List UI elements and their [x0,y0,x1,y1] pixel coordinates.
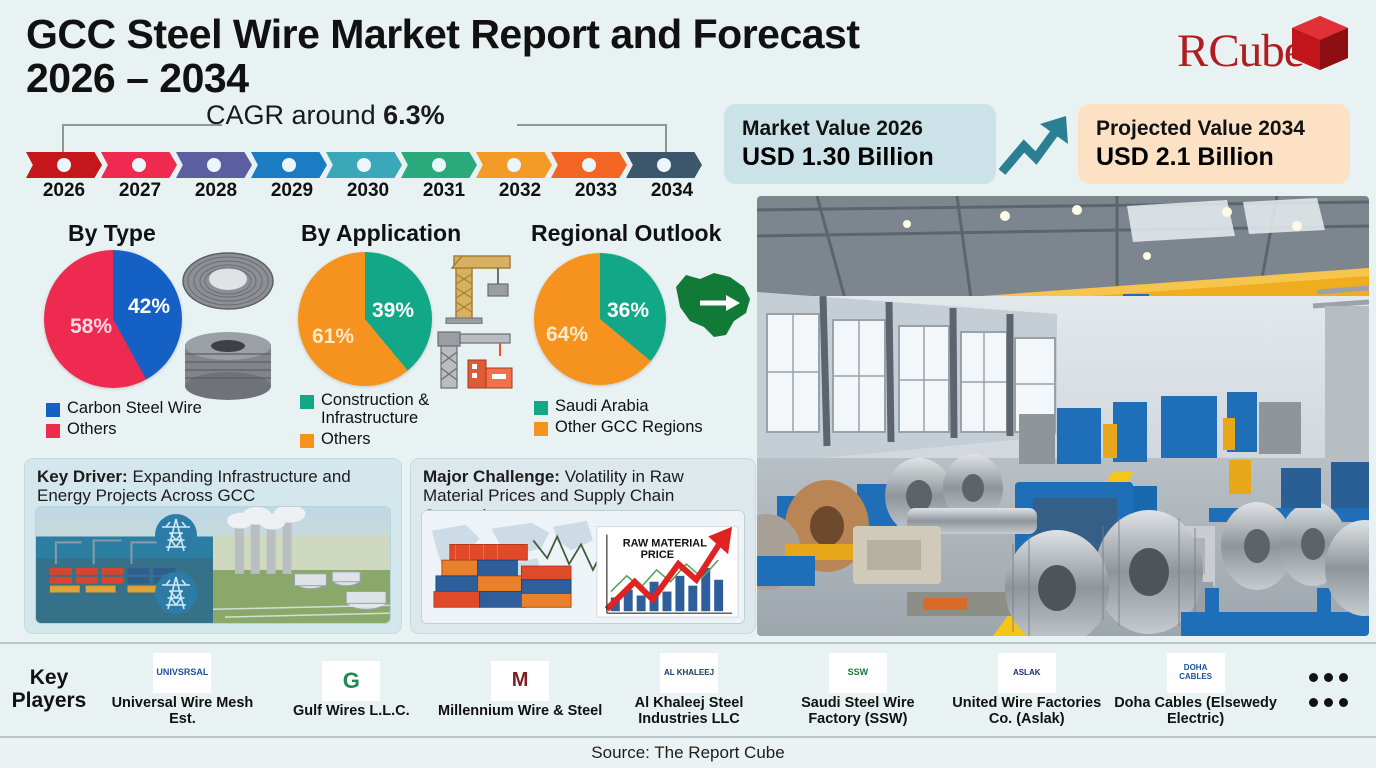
legend-item: Other GCC Regions [534,419,703,437]
pie-title-regional-outlook: Regional Outlook [531,220,721,247]
key-driver-heading: Key Driver: Expanding Infrastructure and… [37,467,391,506]
key-player-name: United Wire Factories Co. (Aslak) [944,695,1109,727]
key-player-name: Saudi Steel Wire Factory (SSW) [775,695,940,727]
market-value-label: Market Value 2026 [742,117,996,141]
key-player-name: Gulf Wires L.L.C. [293,703,410,719]
key-player-logo: AL KHALEEJ [660,653,718,693]
pie-by-type-value-0: 42% [128,295,170,319]
legend-item: Carbon Steel Wire [46,400,202,418]
key-player-name: Doha Cables (Elsewedy Electric) [1113,695,1278,727]
timeline-chevron-2029 [251,152,327,178]
pie-legend-by-application: Construction & Infrastructure Others [300,392,430,451]
legend-item: Construction & Infrastructure [300,392,430,428]
timeline-year-label: 2032 [482,180,558,202]
chevron-dot [657,158,671,172]
timeline-chevron-2027 [101,152,177,178]
key-player-item[interactable]: DOHA CABLESDoha Cables (Elsewedy Electri… [1111,653,1280,727]
page-title-line2: 2026 – 2034 [26,56,926,100]
legend-swatch [534,401,548,415]
pie-chart-by-type [44,250,182,388]
chevron-dot [57,158,71,172]
chevron-dot [357,158,371,172]
key-player-name: Universal Wire Mesh Est. [100,695,265,727]
market-value-amount: USD 1.30 Billion [742,143,996,172]
major-challenge-image: RAW MATERIAL PRICE [421,510,745,624]
pie-regional-value-0: 36% [607,299,649,323]
market-value-box: Market Value 2026 USD 1.30 Billion [724,104,996,184]
cube-icon [1170,8,1360,90]
legend-label: Carbon Steel Wire [67,400,202,418]
legend-swatch [300,395,314,409]
legend-swatch [46,403,60,417]
major-challenge-card: Major Challenge: Volatility in Raw Mater… [410,458,756,634]
key-player-logo: ASLAK [998,653,1056,693]
infographic-page: GCC Steel Wire Market Report and Forecas… [0,0,1376,768]
more-dots-row [1309,673,1348,682]
more-dots-row [1309,698,1348,707]
key-player-logo: G [322,661,380,701]
construction-crane-icon [432,248,512,324]
timeline-years: 202620272028202920302031203220332034 [26,180,710,202]
pie-regional-value-1: 64% [546,323,588,347]
pie-by-application-value-1: 61% [312,325,354,349]
key-player-item[interactable]: GGulf Wires L.L.C. [267,661,436,719]
factory-photo [757,196,1369,636]
key-player-logo: SSW [829,653,887,693]
timeline-chevron-2032 [476,152,552,178]
page-title-line1: GCC Steel Wire Market Report and Forecas… [26,12,926,56]
more-players-indicator[interactable] [1280,673,1376,707]
chevron-dot [582,158,596,172]
power-pylon-icon [154,513,198,557]
pie-legend-by-type: Carbon Steel Wire Others [46,400,202,442]
pie-by-type-value-1: 58% [70,315,112,339]
key-player-logo: DOHA CABLES [1167,653,1225,693]
projected-value-label: Projected Value 2034 [1096,117,1350,141]
timeline-year-label: 2034 [634,180,710,202]
legend-label: Others [321,431,371,449]
wire-coil-icon-2 [182,330,274,402]
key-players-title: Key Players [0,667,98,712]
key-players-list: UNIVSRSALUniversal Wire Mesh Est.GGulf W… [98,653,1280,727]
brand-logo: ЯCube [1170,8,1360,90]
key-player-item[interactable]: ASLAKUnited Wire Factories Co. (Aslak) [942,653,1111,727]
construction-site-icon [428,330,516,394]
timeline-chevron-2026 [26,152,102,178]
major-challenge-label: Major Challenge: [423,467,560,486]
chevron-dot [132,158,146,172]
timeline-year-label: 2031 [406,180,482,202]
key-driver-card: Key Driver: Expanding Infrastructure and… [24,458,402,634]
timeline-year-label: 2029 [254,180,330,202]
key-player-item[interactable]: AL KHALEEJAl Khaleej Steel Industries LL… [605,653,774,727]
timeline-chevron-2030 [326,152,402,178]
legend-swatch [534,422,548,436]
timeline-chevron-2028 [176,152,252,178]
saudi-arabia-map-icon [670,265,756,343]
cagr-timeline: CAGR around 6.3% 20262027202820292030203… [26,100,696,196]
timeline-year-label: 2030 [330,180,406,202]
timeline-chevron-2031 [401,152,477,178]
pie-legend-regional-outlook: Saudi Arabia Other GCC Regions [534,398,703,440]
legend-label: Others [67,421,117,439]
chevron-dot [432,158,446,172]
timeline-year-label: 2026 [26,180,102,202]
key-driver-label: Key Driver: [37,467,128,486]
key-player-name: Al Khaleej Steel Industries LLC [607,695,772,727]
page-title: GCC Steel Wire Market Report and Forecas… [26,12,926,101]
key-player-logo: M [491,661,549,701]
timeline-year-label: 2033 [558,180,634,202]
legend-swatch [46,424,60,438]
projected-value-amount: USD 2.1 Billion [1096,143,1350,172]
legend-item: Saudi Arabia [534,398,703,416]
pie-title-by-application: By Application [301,220,461,247]
svg-text:PRICE: PRICE [641,549,674,561]
legend-item: Others [46,421,202,439]
legend-item: Others [300,431,430,449]
source-text: Source: The Report Cube [591,743,784,763]
chevron-dot [507,158,521,172]
key-player-name: Millennium Wire & Steel [438,703,602,719]
power-pylon-icon [154,571,198,615]
timeline-chevron-2033 [551,152,627,178]
pie-title-by-type: By Type [68,220,156,247]
cagr-bracket [62,124,667,152]
chevron-dot [282,158,296,172]
timeline-year-label: 2027 [102,180,178,202]
key-player-logo: UNIVSRSAL [153,653,211,693]
key-player-item[interactable]: MMillennium Wire & Steel [436,661,605,719]
chevron-dot [207,158,221,172]
key-driver-image [35,506,391,624]
legend-label: Other GCC Regions [555,419,703,437]
source-footer: Source: The Report Cube [0,736,1376,768]
raw-material-price-caption: RAW MATERIAL [623,537,707,549]
key-players-bar: Key Players UNIVSRSALUniversal Wire Mesh… [0,642,1376,736]
pie-by-application-value-0: 39% [372,299,414,323]
timeline-chevron-2034 [626,152,702,178]
wire-coil-icon-1 [180,250,276,312]
timeline-chevrons [26,152,701,178]
key-player-item[interactable]: UNIVSRSALUniversal Wire Mesh Est. [98,653,267,727]
growth-arrow-icon [998,110,1076,178]
legend-swatch [300,434,314,448]
legend-label: Saudi Arabia [555,398,649,416]
key-player-item[interactable]: SSWSaudi Steel Wire Factory (SSW) [773,653,942,727]
legend-label: Construction & Infrastructure [321,392,430,428]
timeline-year-label: 2028 [178,180,254,202]
projected-value-box: Projected Value 2034 USD 2.1 Billion [1078,104,1350,184]
